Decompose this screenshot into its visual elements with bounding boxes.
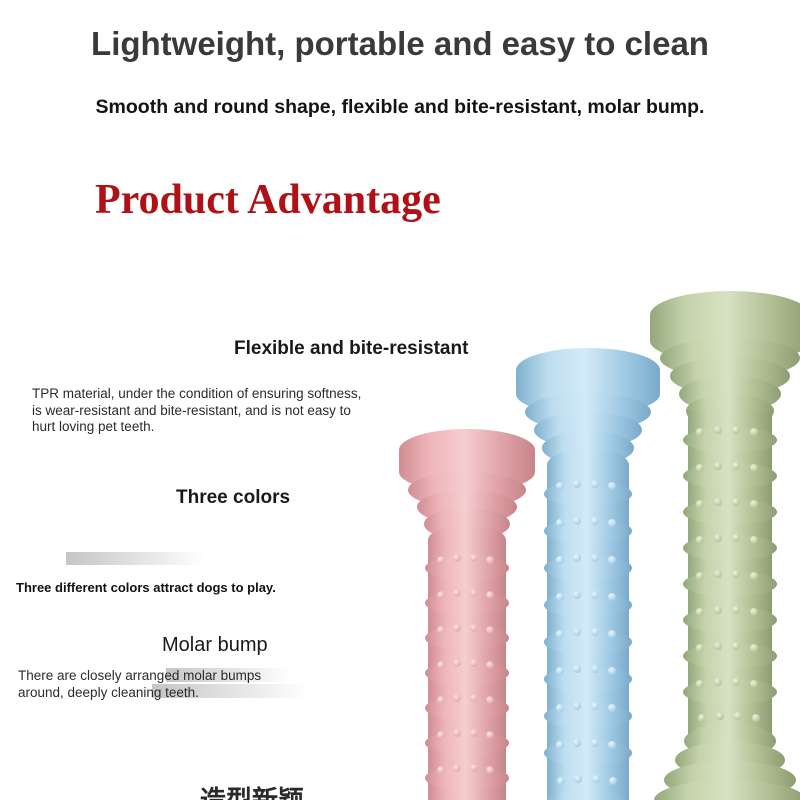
page-title: Lightweight, portable and easy to clean	[20, 25, 780, 63]
pink-dog-chew-toy	[390, 420, 545, 800]
bottom-partial-caption: 造型新颖	[200, 780, 304, 800]
smear-band	[66, 552, 206, 565]
section-title: Product Advantage	[95, 176, 441, 224]
product-photo-panel	[0, 148, 800, 800]
poster-page: Lightweight, portable and easy to clean …	[0, 0, 800, 800]
green-dog-chew-toy	[648, 280, 800, 800]
feature-heading-three-colors: Three colors	[176, 487, 290, 509]
background-band	[0, 148, 34, 298]
background-band	[40, 148, 74, 298]
feature-heading-molar-bump: Molar bump	[162, 634, 268, 657]
page-subtitle: Smooth and round shape, flexible and bit…	[8, 96, 792, 119]
feature-body-three-colors: Three different colors attract dogs to p…	[16, 580, 306, 595]
feature-body-molar-bump: There are closely arranged molar bumps a…	[18, 668, 300, 701]
feature-body-flexible: TPR material, under the condition of ens…	[32, 386, 364, 436]
feature-heading-flexible: Flexible and bite-resistant	[234, 338, 468, 360]
